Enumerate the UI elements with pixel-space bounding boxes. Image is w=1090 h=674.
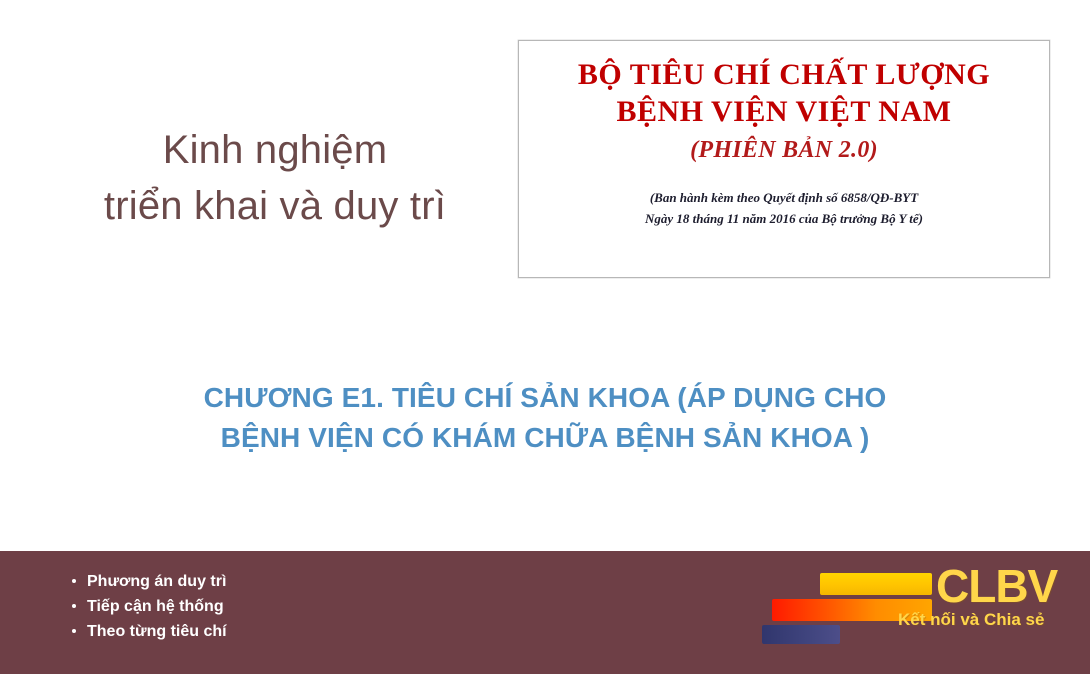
left-heading-line-2: triển khai và duy trì bbox=[40, 178, 510, 234]
bullet-list: Phương án duy trì Tiếp cận hệ thống Theo… bbox=[72, 569, 227, 644]
cover-image-box: BỘ TIÊU CHÍ CHẤT LƯỢNG BỆNH VIỆN VIỆT NA… bbox=[518, 40, 1050, 278]
bullet-dot-icon bbox=[72, 579, 76, 583]
bullet-dot-icon bbox=[72, 604, 76, 608]
bottom-bar: Phương án duy trì Tiếp cận hệ thống Theo… bbox=[0, 551, 1090, 674]
chapter-title-line-2: BỆNH VIỆN CÓ KHÁM CHỮA BỆNH SẢN KHOA ) bbox=[60, 418, 1030, 458]
chapter-title-line-1: CHƯƠNG E1. TIÊU CHÍ SẢN KHOA (ÁP DỤNG CH… bbox=[60, 378, 1030, 418]
cover-note: (Ban hành kèm theo Quyết định số 6858/QĐ… bbox=[519, 187, 1049, 229]
logo-bar-blue-icon bbox=[762, 625, 840, 644]
left-heading-line-1: Kinh nghiệm bbox=[40, 122, 510, 178]
logo-tagline: Kết nối và Chia sẻ bbox=[898, 611, 1044, 628]
cover-title: BỘ TIÊU CHÍ CHẤT LƯỢNG BỆNH VIỆN VIỆT NA… bbox=[519, 57, 1049, 130]
cover-title-line-1: BỘ TIÊU CHÍ CHẤT LƯỢNG bbox=[519, 57, 1049, 94]
list-item: Phương án duy trì bbox=[72, 569, 227, 594]
list-item-label: Phương án duy trì bbox=[87, 573, 226, 590]
list-item-label: Tiếp cận hệ thống bbox=[87, 598, 224, 615]
list-item-label: Theo từng tiêu chí bbox=[87, 623, 227, 640]
list-item: Tiếp cận hệ thống bbox=[72, 594, 227, 619]
bullet-dot-icon bbox=[72, 629, 76, 633]
cover-note-line-1: (Ban hành kèm theo Quyết định số 6858/QĐ… bbox=[519, 187, 1049, 208]
cover-title-line-2: BỆNH VIỆN VIỆT NAM bbox=[519, 94, 1049, 131]
logo-wordmark: CLBV bbox=[936, 563, 1057, 609]
cover-version: (PHIÊN BẢN 2.0) bbox=[519, 136, 1049, 165]
logo-bar-yellow-icon bbox=[820, 573, 932, 595]
left-heading: Kinh nghiệm triển khai và duy trì bbox=[40, 122, 510, 234]
chapter-title: CHƯƠNG E1. TIÊU CHÍ SẢN KHOA (ÁP DỤNG CH… bbox=[60, 378, 1030, 459]
cover-note-line-2: Ngày 18 tháng 11 năm 2016 của Bộ trưởng … bbox=[519, 208, 1049, 229]
slide-canvas: Kinh nghiệm triển khai và duy trì BỘ TIÊ… bbox=[0, 0, 1090, 674]
list-item: Theo từng tiêu chí bbox=[72, 619, 227, 644]
clbv-logo: CLBV Kết nối và Chia sẻ bbox=[760, 569, 1060, 655]
